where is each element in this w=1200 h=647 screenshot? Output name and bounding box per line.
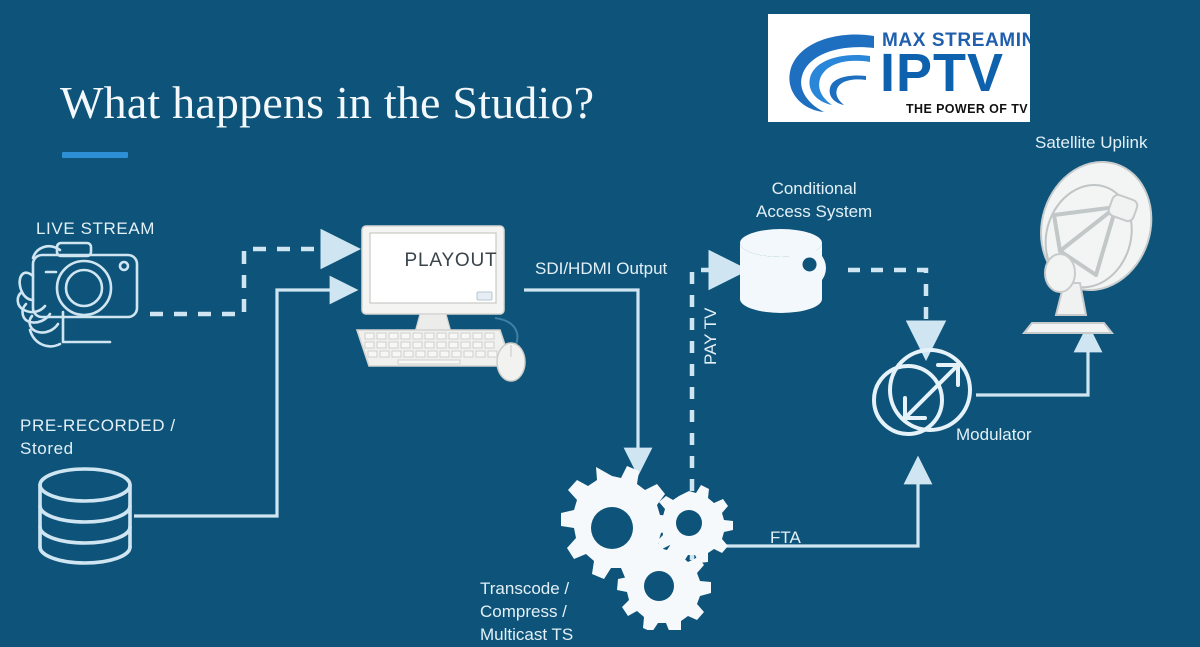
database-cylinder-icon bbox=[40, 469, 130, 563]
modulator-circles-icon bbox=[874, 350, 970, 434]
label-transcode: Transcode / Compress / Multicast TS bbox=[480, 578, 573, 647]
camera-icon bbox=[18, 243, 137, 346]
label-pre-recorded: PRE-RECORDED / Stored bbox=[20, 415, 176, 461]
diagram-canvas: What happens in the Studio? MAX STREAMIN… bbox=[0, 0, 1200, 630]
label-sdi-hdmi-output: SDI/HDMI Output bbox=[535, 258, 667, 281]
database-key-icon bbox=[740, 229, 834, 322]
icon-layer bbox=[0, 0, 1200, 630]
label-modulator: Modulator bbox=[956, 424, 1032, 447]
satellite-dish-icon bbox=[1024, 147, 1168, 333]
label-fta: FTA bbox=[770, 527, 801, 550]
label-live-stream: LIVE STREAM bbox=[36, 218, 155, 241]
label-pay-tv: PAY TV bbox=[700, 308, 723, 365]
label-playout-screen: PLAYOUT bbox=[392, 250, 510, 272]
label-satellite-uplink: Satellite Uplink bbox=[1035, 132, 1147, 155]
label-conditional-access-system: Conditional Access System bbox=[756, 178, 872, 224]
gears-icon bbox=[561, 466, 733, 630]
